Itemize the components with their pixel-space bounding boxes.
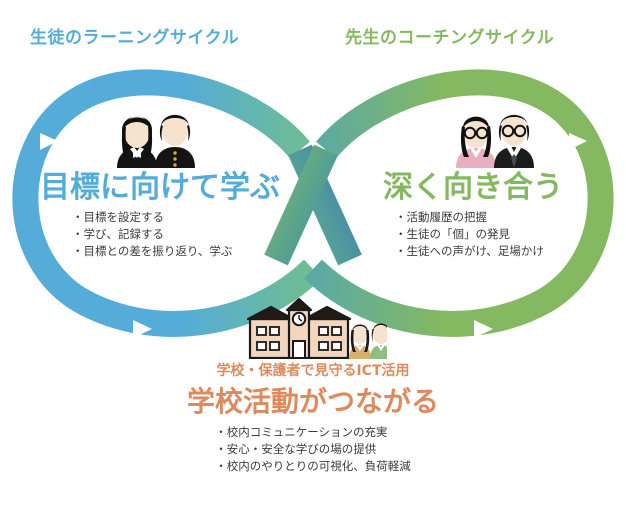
list-item: ・校内のやりとりの可視化、負荷軽減 — [215, 458, 411, 475]
right-cycle-heading: 先生のコーチングサイクル — [345, 23, 554, 48]
arrow-right-top-icon — [569, 133, 587, 150]
bottom-section-subtitle: 学校・保護者で見守るICT活用 — [216, 360, 409, 380]
students-pair-icon — [104, 100, 208, 168]
list-item: ・活動履歴の把握 — [395, 209, 544, 226]
list-item: ・生徒の「個」の発見 — [395, 226, 544, 243]
list-item: ・目標を設定する — [72, 209, 232, 226]
list-item: ・安心・安全な学びの場の提供 — [215, 441, 411, 458]
bottom-section-title: 学校活動がつながる — [187, 380, 439, 420]
list-item: ・校内コミュニケーションの充実 — [215, 424, 411, 441]
left-cycle-bullet-list: ・目標を設定する ・学び、記録する ・目標との差を振り返り、学ぶ — [72, 209, 232, 260]
right-cycle-bullet-list: ・活動履歴の把握 ・生徒の「個」の発見 ・生徒への声がけ、足場かけ — [395, 209, 544, 260]
bottom-section-bullet-list: ・校内コミュニケーションの充実 ・安心・安全な学びの場の提供 ・校内のやりとりの… — [215, 424, 411, 475]
list-item: ・学び、記録する — [72, 226, 232, 243]
left-cycle-heading: 生徒のラーニングサイクル — [30, 23, 239, 48]
list-item: ・生徒への声がけ、足場かけ — [395, 243, 544, 260]
teachers-pair-icon — [443, 100, 547, 168]
school-building-icon — [245, 297, 387, 359]
arrow-left-bottom-icon — [133, 320, 152, 338]
arrow-left-top-icon — [40, 133, 58, 150]
arrow-right-bottom-icon — [474, 320, 493, 338]
left-cycle-title: 目標に向けて学ぶ — [40, 162, 280, 206]
right-cycle-title: 深く向き合う — [383, 162, 563, 206]
infographic-canvas: 生徒のラーニングサイクル 先生のコーチングサイクル — [0, 0, 626, 518]
list-item: ・目標との差を振り返り、学ぶ — [72, 243, 232, 260]
